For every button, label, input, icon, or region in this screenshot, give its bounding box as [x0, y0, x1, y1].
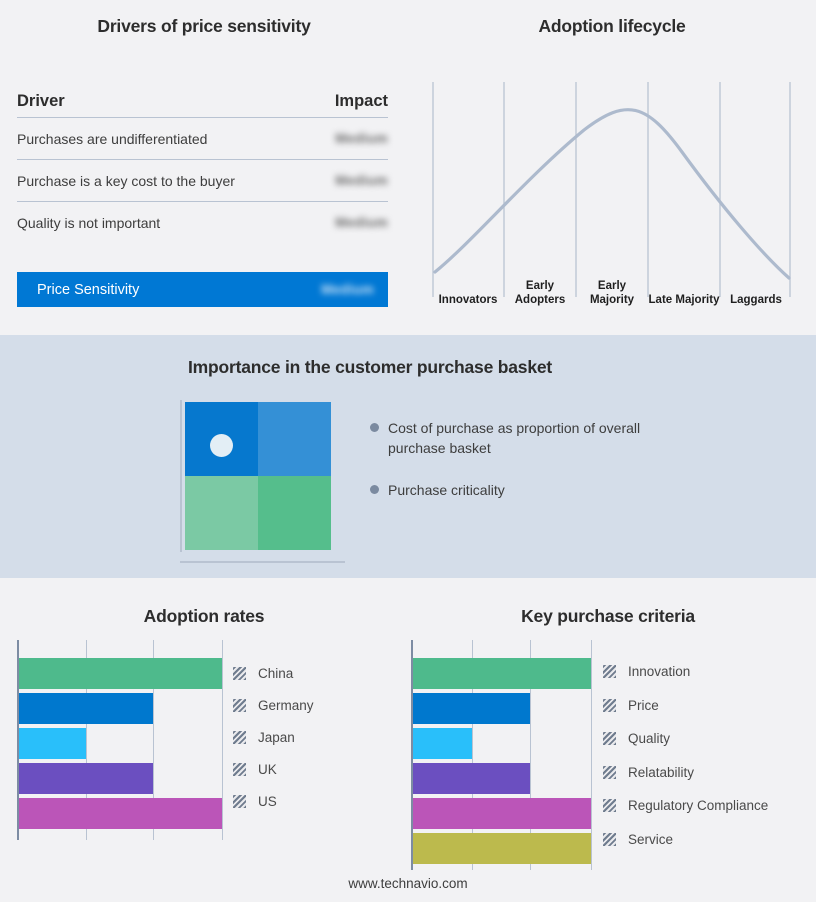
legend-item: Purchase criticality	[370, 480, 700, 500]
legend-label: Quality	[628, 731, 670, 746]
column-header-impact: Impact	[335, 92, 388, 111]
purchase-basket-title: Importance in the customer purchase bask…	[0, 357, 740, 378]
legend-item: Price	[603, 698, 659, 713]
legend-label: UK	[258, 762, 277, 777]
bar-innovation	[413, 658, 591, 689]
bar-us	[19, 798, 222, 829]
legend-item: Germany	[233, 698, 314, 713]
legend-label: Price	[628, 698, 659, 713]
legend-item: Regulatory Compliance	[603, 798, 768, 813]
quadrant-y-axis	[180, 400, 182, 552]
chart-gridline	[591, 640, 592, 870]
bar-japan	[19, 728, 86, 759]
quadrant-bottom-left	[185, 476, 258, 550]
position-marker-dot	[210, 434, 233, 457]
legend-swatch-icon	[603, 766, 616, 779]
impact-value: Medium	[335, 173, 388, 188]
impact-value: Medium	[335, 215, 388, 230]
bar-germany	[19, 693, 153, 724]
bar-regulatory-compliance	[413, 798, 591, 829]
legend-item: Quality	[603, 731, 670, 746]
impact-value: Medium	[335, 131, 388, 146]
legend-item: US	[233, 794, 277, 809]
column-header-driver: Driver	[17, 92, 65, 111]
legend-label: Relatability	[628, 765, 694, 780]
key-criteria-title: Key purchase criteria	[400, 606, 816, 627]
legend-swatch-icon	[233, 795, 246, 808]
legend-swatch-icon	[233, 699, 246, 712]
legend-label: US	[258, 794, 277, 809]
key-criteria-chart	[411, 640, 591, 870]
key-criteria-panel: Key purchase criteria InnovationPriceQua…	[400, 578, 816, 902]
legend-swatch-icon	[603, 732, 616, 745]
bar-relatability	[413, 763, 530, 794]
legend-item: China	[233, 666, 293, 681]
bar-service	[413, 833, 591, 864]
bullet-icon	[370, 485, 379, 494]
bar-price	[413, 693, 530, 724]
legend-swatch-icon	[603, 799, 616, 812]
legend-item: Relatability	[603, 765, 694, 780]
table-header: Driver Impact	[17, 92, 388, 117]
lifecycle-panel: Adoption lifecycle Innovators Early Adop…	[408, 0, 816, 335]
bar-quality	[413, 728, 472, 759]
legend-item: Japan	[233, 730, 295, 745]
highlight-label: Price Sensitivity	[37, 282, 139, 298]
driver-label: Purchase is a key cost to the buyer	[17, 173, 235, 189]
bell-curve-svg	[432, 82, 792, 310]
adoption-rates-title: Adoption rates	[0, 606, 408, 627]
legend-swatch-icon	[233, 731, 246, 744]
bar-uk	[19, 763, 153, 794]
driver-label: Purchases are undifferentiated	[17, 131, 207, 147]
legend-label: China	[258, 666, 293, 681]
legend-label: Purchase criticality	[388, 480, 505, 500]
purchase-basket-legend: Cost of purchase as proportion of overal…	[370, 418, 700, 522]
legend-label: Cost of purchase as proportion of overal…	[388, 418, 700, 458]
legend-label: Japan	[258, 730, 295, 745]
legend-label: Service	[628, 832, 673, 847]
quadrant-bottom-right	[258, 476, 331, 550]
lifecycle-chart	[432, 82, 792, 310]
legend-item: Cost of purchase as proportion of overal…	[370, 418, 700, 458]
legend-item: Innovation	[603, 664, 690, 679]
legend-label: Innovation	[628, 664, 690, 679]
adoption-rates-panel: Adoption rates ChinaGermanyJapanUKUS	[0, 578, 408, 902]
legend-label: Regulatory Compliance	[628, 798, 768, 813]
legend-swatch-icon	[233, 667, 246, 680]
legend-swatch-icon	[233, 763, 246, 776]
quadrant-x-axis	[180, 561, 345, 563]
table-row: Purchase is a key cost to the buyer Medi…	[17, 160, 388, 201]
footer-url: www.technavio.com	[0, 876, 816, 891]
legend-swatch-icon	[603, 665, 616, 678]
bullet-icon	[370, 423, 379, 432]
legend-swatch-icon	[603, 833, 616, 846]
drivers-table: Driver Impact Purchases are undifferenti…	[17, 92, 388, 243]
adoption-rates-chart	[17, 640, 222, 840]
table-row: Purchases are undifferentiated Medium	[17, 118, 388, 159]
driver-label: Quality is not important	[17, 215, 160, 231]
chart-gridline	[222, 640, 223, 840]
lifecycle-title: Adoption lifecycle	[408, 16, 816, 37]
legend-swatch-icon	[603, 699, 616, 712]
highlight-impact-value: Medium	[321, 282, 374, 297]
legend-label: Germany	[258, 698, 314, 713]
quadrant-matrix	[185, 402, 331, 550]
drivers-title: Drivers of price sensitivity	[0, 16, 408, 37]
drivers-panel: Drivers of price sensitivity Driver Impa…	[0, 0, 408, 335]
quadrant-top-right	[258, 402, 331, 476]
legend-item: Service	[603, 832, 673, 847]
bar-china	[19, 658, 222, 689]
adoption-curve	[435, 110, 789, 278]
table-row: Quality is not important Medium	[17, 202, 388, 243]
price-sensitivity-highlight-row: Price Sensitivity Medium	[17, 272, 388, 307]
legend-item: UK	[233, 762, 277, 777]
